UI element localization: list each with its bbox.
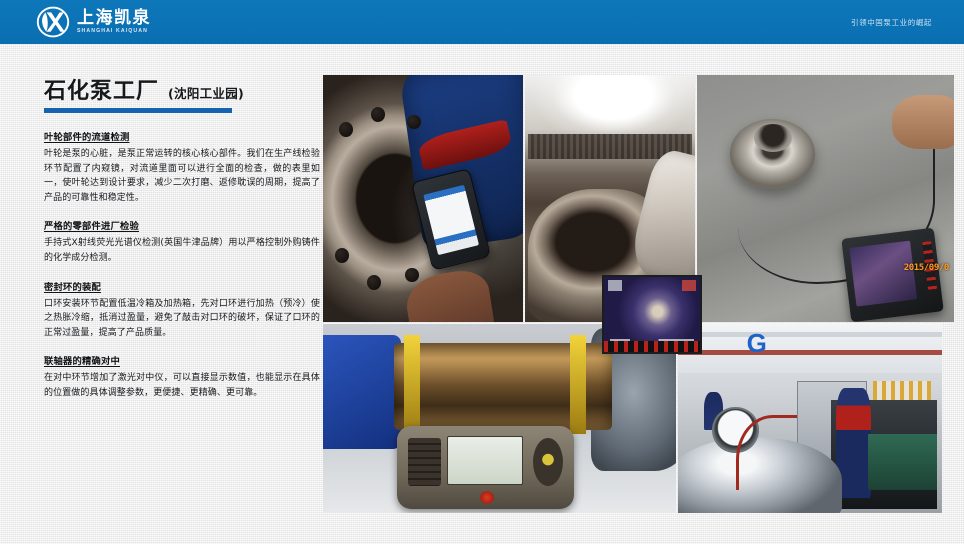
content-panel: 石化泵工厂 (沈阳工业园) 叶轮部件的流道检测 叶轮是泵的心脏，是泵正常运转的核… xyxy=(25,44,964,544)
electric-motor xyxy=(323,335,401,448)
logo-english-name: SHANGHAI KAIQUAN xyxy=(77,29,151,34)
flange-bolt xyxy=(339,122,353,137)
flange-bolt xyxy=(335,248,349,263)
kaiquan-logo-icon xyxy=(36,6,70,38)
section-body: 口环安装环节配置低温冷箱及加热箱，先对口环进行加热（预冷）使之热胀冷缩，抵消过盈… xyxy=(44,297,320,341)
section-body: 叶轮是泵的心脏，是泵正常运转的核心核心部件。我们在生产线检验环节配置了内窥镜，对… xyxy=(44,147,320,205)
tool-power-button xyxy=(480,491,494,504)
company-logo[interactable]: 上海凯泉 SHANGHAI KAIQUAN xyxy=(36,5,151,39)
page-title-sub: (沈阳工业园) xyxy=(168,83,244,102)
flange-bolt xyxy=(367,275,381,290)
section-heading: 叶轮部件的流道检测 xyxy=(44,129,320,143)
flange-bolt xyxy=(405,268,419,283)
device-keypad-strip xyxy=(604,341,700,353)
borescope-monitor xyxy=(841,228,943,322)
photo-flange-inspection xyxy=(323,75,523,322)
operator-hand xyxy=(892,95,954,149)
laser-bracket xyxy=(570,335,586,433)
photo-borescope-screen xyxy=(602,275,702,354)
tool-display xyxy=(447,436,523,485)
photo-borescope-impeller: 2015/09/0 xyxy=(697,75,954,322)
tester-screen xyxy=(423,185,479,255)
section-heading: 联轴器的精确对中 xyxy=(44,353,320,367)
photo-inset-body xyxy=(604,277,700,352)
sections-list: 叶轮部件的流道检测 叶轮是泵的心脏，是泵正常运转的核心核心部件。我们在生产线检验… xyxy=(44,129,320,400)
screen-hud-top xyxy=(608,280,696,291)
page-title-main: 石化泵工厂 xyxy=(44,80,159,103)
flange-bolt xyxy=(371,107,385,122)
section-incoming-parts-inspection: 严格的零部件进厂检验 手持式X射线荧光光谱仪检测(英国牛津品牌）用以严格控制外购… xyxy=(44,218,320,265)
section-seal-ring-assembly: 密封环的装配 口环安装环节配置低温冷箱及加热箱，先对口环进行加热（预冷）使之热胀… xyxy=(44,279,320,341)
section-coupling-alignment: 联轴器的精确对中 在对中环节增加了激光对中仪，可以直接显示数值，也能显示在具体的… xyxy=(44,353,320,400)
section-body: 手持式X射线荧光光谱仪检测(英国牛津品牌）用以严格控制外购铸件的化学成分检测。 xyxy=(44,236,320,265)
laser-bracket xyxy=(404,335,420,433)
tool-keypad xyxy=(408,438,442,486)
header-bar: 上海凯泉 SHANGHAI KAIQUAN 引领中国泵工业的崛起 xyxy=(0,0,964,44)
slide-area: 石化泵工厂 (沈阳工业园) 叶轮部件的流道检测 叶轮是泵的心脏，是泵正常运转的核… xyxy=(25,44,964,544)
photo-heating-cryo-shop: G xyxy=(678,324,942,513)
section-body: 在对中环节增加了激光对中仪，可以直接显示数值，也能显示在具体的位置做的具体调整参… xyxy=(44,371,320,400)
wall-letter-g: G xyxy=(747,330,767,356)
photo-flange-body xyxy=(323,75,523,322)
section-heading: 密封环的装配 xyxy=(44,279,320,293)
section-impeller-flow-inspection: 叶轮部件的流道检测 叶轮是泵的心脏，是泵正常运转的核心核心部件。我们在生产线检验… xyxy=(44,129,320,205)
red-pipe xyxy=(678,350,942,355)
page-title: 石化泵工厂 (沈阳工业园) xyxy=(44,80,320,103)
logo-text-block: 上海凯泉 SHANGHAI KAIQUAN xyxy=(77,10,151,34)
photo-timestamp: 2015/09/0 xyxy=(904,263,949,273)
roof-truss xyxy=(678,332,942,338)
flange-bolt xyxy=(407,115,421,130)
text-column: 石化泵工厂 (沈阳工业园) 叶轮部件的流道检测 叶轮是泵的心脏，是泵正常运转的核… xyxy=(35,80,320,413)
laser-alignment-tool xyxy=(397,426,574,509)
photo-shop-body: G xyxy=(678,324,942,513)
monitor-screen xyxy=(850,241,918,307)
photo-collage: 2015/09/0 xyxy=(323,75,954,513)
title-underline xyxy=(44,108,232,113)
tool-ok-button xyxy=(533,438,563,486)
photo-scope-body: 2015/09/0 xyxy=(697,75,954,322)
green-workbench xyxy=(868,434,937,491)
logo-chinese-name: 上海凯泉 xyxy=(77,10,151,27)
section-heading: 严格的零部件进厂检验 xyxy=(44,218,320,232)
header-slogan: 引领中国泵工业的崛起 xyxy=(851,0,932,44)
